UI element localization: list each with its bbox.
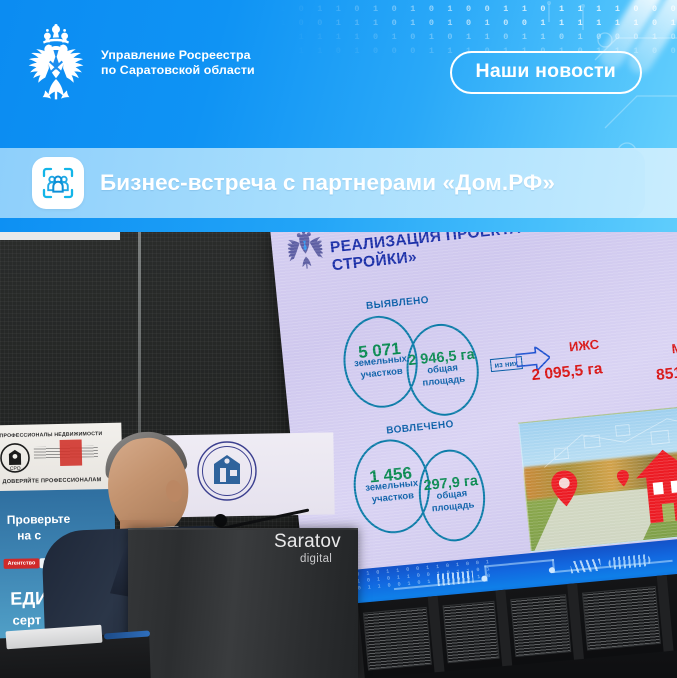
- article-title-bar-inner: Бизнес-встреча с партнерами «Дом.РФ»: [0, 148, 645, 218]
- cadastral-grid-overlay: [519, 402, 677, 477]
- slide-bubble-label-2: площадь: [431, 499, 475, 515]
- article-title: Бизнес-встреча с партнерами «Дом.РФ»: [100, 170, 555, 196]
- podium-brand-subtitle: digital: [300, 554, 341, 566]
- page-header: 1 0 1 1 0 1 0 1 0 1 0 0 1 1 0 1 1 1 1 0 …: [0, 0, 677, 148]
- rack-mesh-panel: [363, 607, 432, 671]
- slide-bubble-label-2: участков: [371, 490, 414, 506]
- our-news-button[interactable]: Наши новости: [450, 51, 642, 94]
- slide-bubble-label-2: участков: [360, 366, 403, 382]
- group-people-scan-icon: [41, 166, 75, 200]
- rollup-blue-line-1: Проверьте: [7, 512, 71, 527]
- article-title-bar: Бизнес-встреча с партнерами «Дом.РФ»: [0, 148, 677, 218]
- slide-bubble-label-1: общая: [427, 363, 459, 377]
- rollup-red-block: [60, 440, 83, 466]
- partner-circular-logo-icon: [196, 440, 258, 502]
- rollup-blue-line-2: на с: [17, 528, 41, 542]
- map-pin-icon: [550, 469, 579, 507]
- rollup-big-line-2: серт: [12, 612, 41, 627]
- slide-breakdown-value: 2 095,5 га: [531, 360, 604, 385]
- slide-bubble-label-1: земельных: [365, 478, 419, 495]
- organization-name-line1: Управление Росреестра: [101, 48, 255, 64]
- slide-bubble-label-1: земельных: [354, 354, 408, 371]
- slide-arrow-label: из них: [490, 356, 523, 372]
- map-pin-icon: [616, 470, 630, 488]
- rollup-headline: ПРОФЕССИОНАЛЫ НЕДВИЖИМОСТИ: [0, 431, 102, 439]
- slide-arrow-icon: [515, 345, 551, 372]
- slide-bubble-value: 2 946,5 га: [408, 349, 475, 367]
- rollup-subline: ДОВЕРЯЙТЕ ПРОФЕССИОНАЛАМ: [2, 477, 101, 485]
- red-house-icon: [632, 445, 677, 527]
- rollup-banner-top: ПРОФЕССИОНАЛЫ НЕДВИЖИМОСТИ СРО ДОВЕРЯЙТЕ…: [0, 423, 123, 494]
- organization-logo: Управление Росреестра по Саратовской обл…: [22, 24, 255, 102]
- strip-bar-graph: [570, 559, 601, 574]
- microphone-icon: [214, 514, 227, 527]
- strip-trace: [484, 559, 554, 567]
- slide-bubble: 5 071 земельных участков: [339, 312, 422, 411]
- rack-mesh-panel: [510, 594, 571, 657]
- slide-title: РЕАЛИЗАЦИЯ ПРОЕКТА «ЗЕМЛЯ ДЛЯ СТРОЙКИ»: [329, 232, 677, 275]
- slide-bubble-value: 297,9 га: [423, 476, 478, 493]
- slide-bubble-label-1: общая: [436, 488, 468, 502]
- slide-bubble: 2 946,5 га общая площадь: [402, 321, 483, 420]
- slide-section-caption: ВОВЛЕЧЕНО: [386, 419, 454, 437]
- slide-bubble-value: 5 071: [358, 343, 401, 359]
- slide-eagle-emblem-icon: [287, 232, 325, 272]
- rosreestr-eagle-emblem-icon: [22, 24, 90, 102]
- slide-section-caption: ВЫЯВЛЕНО: [366, 295, 430, 312]
- sro-emblem-icon: СРО: [0, 443, 30, 474]
- slide-bubble: 297,9 га общая площадь: [415, 447, 490, 545]
- podium-brand-name: Saratov: [274, 532, 341, 551]
- article-photo: РЕАЛИЗАЦИЯ ПРОЕКТА «ЗЕМЛЯ ДЛЯ СТРОЙКИ» В…: [0, 232, 677, 678]
- slide-breakdown-name: МКД: [671, 339, 677, 357]
- strip-bar-graph: [608, 554, 651, 570]
- slide-breakdown-name: ИЖС: [568, 336, 599, 354]
- news-card-page: 1 0 1 1 0 1 0 1 0 1 0 0 1 1 0 1 1 1 1 0 …: [0, 0, 677, 678]
- slide-inset-trees: [524, 446, 677, 500]
- organization-name: Управление Росреестра по Саратовской обл…: [101, 48, 255, 79]
- ceiling-strip: [0, 232, 120, 240]
- slide-bubble: 1 456 земельных участков: [349, 436, 434, 537]
- slide-bubble-value: 1 456: [369, 467, 412, 483]
- title-icon-badge: [32, 157, 84, 209]
- strip-bar-graph: [437, 571, 474, 586]
- slide-breakdown-value: 851,0 га: [655, 361, 677, 385]
- slide-bubble-label-2: площадь: [422, 373, 466, 389]
- rollup-agency-badge: Агентство: [4, 558, 40, 569]
- slide-inset-photo: [518, 401, 677, 552]
- svg-text:СРО: СРО: [10, 466, 21, 472]
- organization-name-line2: по Саратовской области: [101, 63, 255, 79]
- title-bar-accent-strip: [0, 218, 677, 232]
- podium-brand-label: Saratov digital: [274, 532, 341, 566]
- rack-mesh-panel: [443, 601, 500, 663]
- rack-mesh-panel: [582, 586, 661, 650]
